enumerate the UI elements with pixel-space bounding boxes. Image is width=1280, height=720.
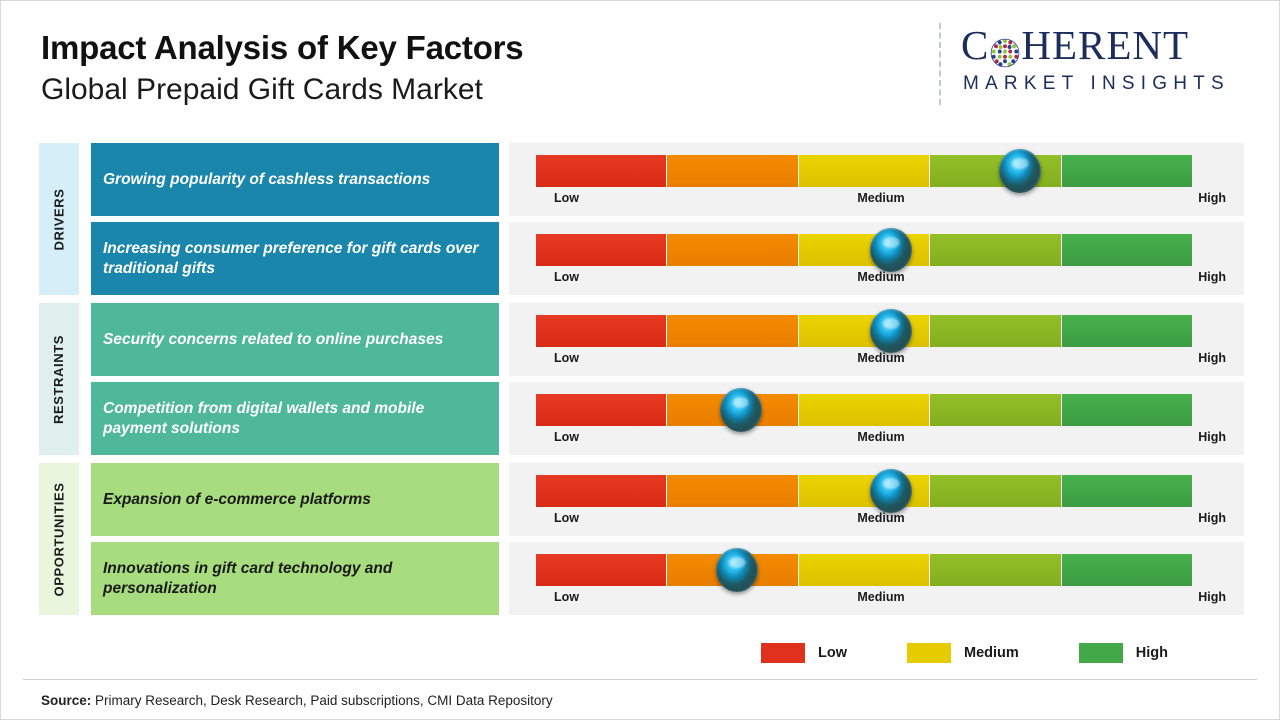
gauge-segment-medium-high [930,554,1061,586]
gauge-bar [536,475,1192,507]
gauge-bar [536,554,1192,586]
gauge-segment-medium [799,394,930,426]
scale-label-low: Low [554,351,579,365]
scale-label-high: High [1198,590,1226,604]
gauge-segment-high [1062,155,1192,187]
gauge-segment-high [1062,475,1192,507]
category-label-drivers: DRIVERS [52,188,67,250]
scale-label-medium: Medium [857,351,904,365]
footer-divider [23,679,1257,680]
logo-tagline: MARKET INSIGHTS [963,73,1230,95]
scale-label-medium: Medium [857,430,904,444]
gauge-segment-medium [799,554,930,586]
scale-label-high: High [1198,351,1226,365]
scale-label-medium: Medium [857,191,904,205]
scale-label-low: Low [554,270,579,284]
gauge-segment-low-medium [667,315,798,347]
scale-label-low: Low [554,511,579,525]
source-text: Primary Research, Desk Research, Paid su… [91,693,552,708]
header: Impact Analysis of Key Factors Global Pr… [41,29,921,108]
source-label: Source: [41,693,91,708]
slide-canvas: Impact Analysis of Key Factors Global Pr… [0,0,1280,720]
scale-label-low: Low [554,590,579,604]
category-tab-restraints: RESTRAINTS [39,303,79,455]
scale-label-low: Low [554,191,579,205]
gauge-segment-medium-high [930,475,1061,507]
gauge-scale: Low Medium High [536,430,1226,448]
factor-row[interactable]: Growing popularity of cashless transacti… [91,143,1244,216]
factor-text: Growing popularity of cashless transacti… [103,170,430,190]
gauge-segment-medium-high [930,234,1061,266]
rows-opportunities: Expansion of e-commerce platforms Low [91,463,1244,615]
impact-gauge[interactable]: Low Medium High [509,382,1244,455]
category-group-opportunities: OPPORTUNITIES Expansion of e-commerce pl… [39,463,1244,615]
gauge-segment-low-medium [667,155,798,187]
impact-marker[interactable] [870,469,912,513]
category-tab-opportunities: OPPORTUNITIES [39,463,79,615]
brand-logo: C [939,23,1257,105]
factor-text: Innovations in gift card technology and … [103,559,487,599]
globe-sphere-icon [990,34,1020,64]
page-title: Impact Analysis of Key Factors [41,29,921,67]
impact-gauge[interactable]: Low Medium High [509,463,1244,536]
gauge-bar [536,155,1192,187]
scale-label-high: High [1198,191,1226,205]
gauge-bar [536,394,1192,426]
page-subtitle: Global Prepaid Gift Cards Market [41,72,921,108]
gauge-scale: Low Medium High [536,590,1226,608]
factor-row[interactable]: Expansion of e-commerce platforms Low [91,463,1244,536]
legend: Low Medium High [761,643,1168,663]
impact-marker[interactable] [716,548,758,592]
factor-box: Security concerns related to online purc… [91,303,499,376]
gauge-segment-high [1062,315,1192,347]
scale-label-high: High [1198,270,1226,284]
legend-label-medium: Medium [964,645,1019,661]
gauge-segment-low-medium [667,475,798,507]
gauge-segment-high [1062,394,1192,426]
factor-text: Increasing consumer preference for gift … [103,239,487,279]
factor-box: Expansion of e-commerce platforms [91,463,499,536]
scale-label-low: Low [554,430,579,444]
factor-row[interactable]: Security concerns related to online purc… [91,303,1244,376]
legend-swatch-medium [907,643,951,663]
gauge-bar [536,315,1192,347]
category-group-drivers: DRIVERS Growing popularity of cashless t… [39,143,1244,295]
logo-letters-herent: HERENT [1021,25,1189,66]
impact-marker[interactable] [720,388,762,432]
legend-item-medium: Medium [907,643,1019,663]
gauge-scale: Low Medium High [536,511,1226,529]
gauge-segment-low [536,475,667,507]
scale-label-high: High [1198,430,1226,444]
gauge-segment-low [536,234,667,266]
factor-box: Growing popularity of cashless transacti… [91,143,499,216]
gauge-segment-low [536,315,667,347]
factor-box: Competition from digital wallets and mob… [91,382,499,455]
gauge-segment-medium-high [930,315,1061,347]
gauge-segment-low [536,394,667,426]
gauge-segment-low [536,155,667,187]
rows-restraints: Security concerns related to online purc… [91,303,1244,455]
factor-row[interactable]: Competition from digital wallets and mob… [91,382,1244,455]
impact-matrix: DRIVERS Growing popularity of cashless t… [39,143,1244,615]
gauge-segment-high [1062,554,1192,586]
scale-label-high: High [1198,511,1226,525]
impact-marker[interactable] [870,228,912,272]
factor-text: Competition from digital wallets and mob… [103,399,487,439]
legend-item-high: High [1079,643,1168,663]
gauge-scale: Low Medium High [536,351,1226,369]
gauge-scale: Low Medium High [536,270,1226,288]
scale-label-medium: Medium [857,511,904,525]
gauge-scale: Low Medium High [536,191,1226,209]
factor-row[interactable]: Increasing consumer preference for gift … [91,222,1244,295]
source-note: Source: Primary Research, Desk Research,… [41,693,553,708]
legend-item-low: Low [761,643,847,663]
logo-wordmark: C [961,25,1189,66]
factor-box: Innovations in gift card technology and … [91,542,499,615]
impact-gauge[interactable]: Low Medium High [509,143,1244,216]
impact-gauge[interactable]: Low Medium High [509,222,1244,295]
logo-divider [939,23,941,105]
category-label-restraints: RESTRAINTS [52,334,67,423]
scale-label-medium: Medium [857,590,904,604]
legend-swatch-low [761,643,805,663]
factor-text: Expansion of e-commerce platforms [103,490,371,510]
gauge-segment-medium-high [930,155,1061,187]
gauge-segment-medium-high [930,394,1061,426]
category-tab-drivers: DRIVERS [39,143,79,295]
impact-gauge[interactable]: Low Medium High [509,542,1244,615]
factor-row[interactable]: Innovations in gift card technology and … [91,542,1244,615]
factor-box: Increasing consumer preference for gift … [91,222,499,295]
factor-text: Security concerns related to online purc… [103,330,443,350]
category-label-opportunities: OPPORTUNITIES [52,482,67,596]
gauge-segment-low-medium [667,234,798,266]
scale-label-medium: Medium [857,270,904,284]
logo-letter-c: C [961,25,989,66]
gauge-bar [536,234,1192,266]
gauge-segment-medium [799,155,930,187]
rows-drivers: Growing popularity of cashless transacti… [91,143,1244,295]
legend-label-high: High [1136,645,1168,661]
impact-marker[interactable] [999,149,1041,193]
category-group-restraints: RESTRAINTS Security concerns related to … [39,303,1244,455]
legend-label-low: Low [818,645,847,661]
gauge-segment-high [1062,234,1192,266]
impact-marker[interactable] [870,309,912,353]
legend-swatch-high [1079,643,1123,663]
impact-gauge[interactable]: Low Medium High [509,303,1244,376]
gauge-segment-low [536,554,667,586]
